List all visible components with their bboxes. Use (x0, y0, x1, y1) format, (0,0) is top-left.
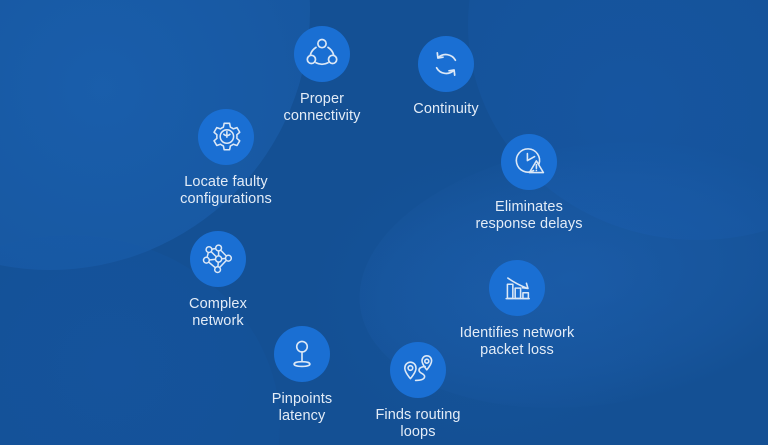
declining-bar-chart-icon (501, 272, 534, 305)
feature-icon-badge (489, 260, 545, 316)
feature-icon-badge (190, 231, 246, 287)
network-graph-icon (201, 242, 235, 276)
feature-item-finds-routing-loops[interactable]: Finds routing loops (333, 342, 503, 441)
feature-icon-badge (501, 134, 557, 190)
feature-item-eliminates-response-delays[interactable]: Eliminates response delays (444, 134, 614, 233)
feature-label: Eliminates response delays (444, 199, 614, 233)
feature-label: Complex network (133, 296, 303, 330)
clock-warning-icon (512, 145, 546, 179)
feature-item-continuity[interactable]: Continuity (361, 36, 531, 118)
refresh-cycle-icon (429, 47, 463, 81)
feature-icon-badge (294, 26, 350, 82)
gear-wrench-icon (209, 120, 244, 155)
feature-label: Finds routing loops (333, 407, 503, 441)
feature-icon-badge (274, 326, 330, 382)
feature-item-complex-network[interactable]: Complex network (133, 231, 303, 330)
location-pin-stand-icon (286, 338, 318, 370)
feature-graphic-canvas: Proper connectivity Continuity (0, 0, 768, 445)
route-pins-icon (401, 353, 435, 387)
feature-icon-badge (418, 36, 474, 92)
feature-label: Locate faulty configurations (141, 174, 311, 208)
feature-icon-badge (198, 109, 254, 165)
feature-icon-badge (390, 342, 446, 398)
feature-item-locate-faulty-configurations[interactable]: Locate faulty configurations (141, 109, 311, 208)
share-nodes-icon (305, 37, 339, 71)
feature-label: Continuity (361, 101, 531, 118)
